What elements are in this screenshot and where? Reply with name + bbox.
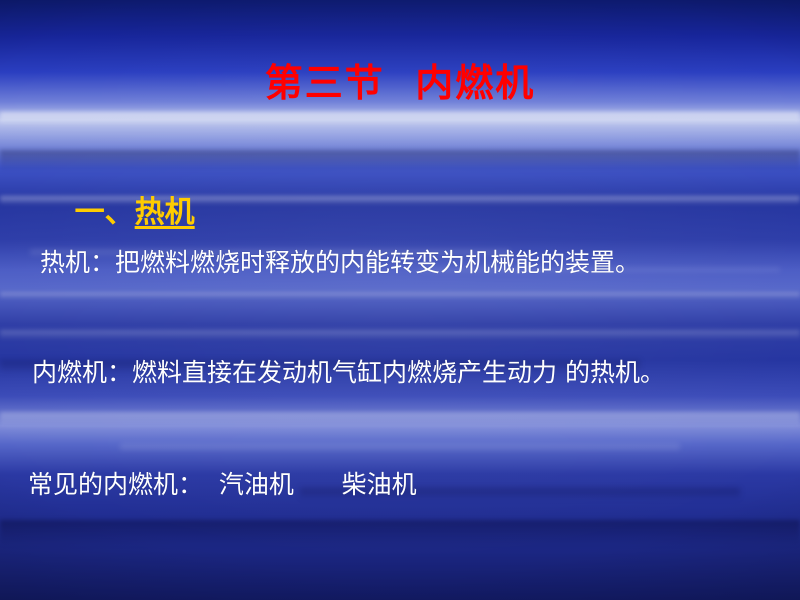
presentation-slide: 第三节 内燃机 一、热机 热机：把燃料燃烧时释放的内能转变为机械能的装置。 内燃… (0, 0, 800, 600)
section-heading-text: 热机 (135, 195, 195, 230)
slide-content: 第三节 内燃机 一、热机 热机：把燃料燃烧时释放的内能转变为机械能的装置。 内燃… (0, 0, 800, 600)
definition-internal-combustion-engine: 内燃机：燃料直接在发动机气缸内燃烧产生动力 的热机。 (32, 353, 665, 389)
common-engine-types: 常见的内燃机： 汽油机 柴油机 (28, 465, 417, 501)
definition-heat-engine: 热机：把燃料燃烧时释放的内能转变为机械能的装置。 (40, 243, 640, 279)
section-heading-number: 一、 (75, 195, 135, 230)
slide-title: 第三节 内燃机 (0, 52, 800, 107)
